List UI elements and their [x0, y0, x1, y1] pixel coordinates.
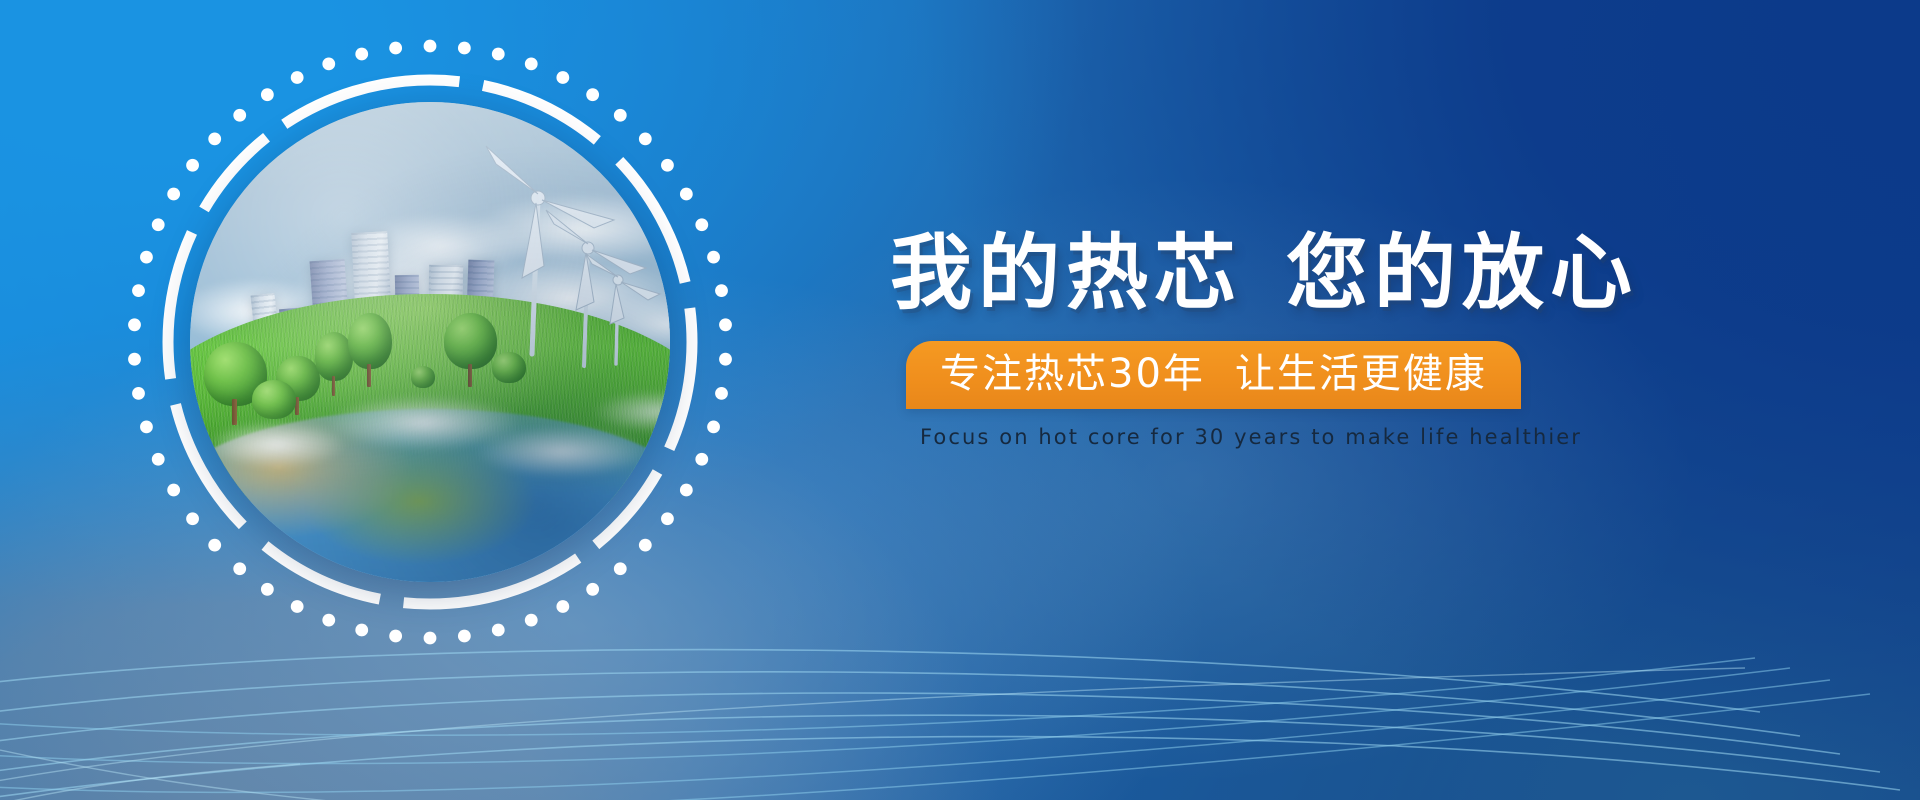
- earth-clouds: [190, 390, 670, 572]
- headline-part-2: 您的放心: [1286, 226, 1638, 321]
- banner-copy: 我的热芯您的放心 专注热芯30年让生活更健康 Focus on hot core…: [890, 230, 1850, 449]
- green-planet: [190, 102, 670, 582]
- ribbon-text: 专注热芯30年让生活更健康: [940, 350, 1487, 399]
- hero-banner: 我的热芯您的放心 专注热芯30年让生活更健康 Focus on hot core…: [0, 0, 1920, 800]
- headline-part-1: 我的热芯: [890, 226, 1242, 321]
- ribbon-part-2: 让生活更健康: [1235, 351, 1487, 397]
- ribbon-part-1: 专注热芯30年: [940, 351, 1205, 397]
- tagline-ribbon: 专注热芯30年让生活更健康: [906, 341, 1521, 410]
- english-subline: Focus on hot core for 30 years to make l…: [920, 425, 1850, 449]
- eco-globe-graphic: [120, 32, 740, 652]
- headline: 我的热芯您的放心: [890, 230, 1850, 319]
